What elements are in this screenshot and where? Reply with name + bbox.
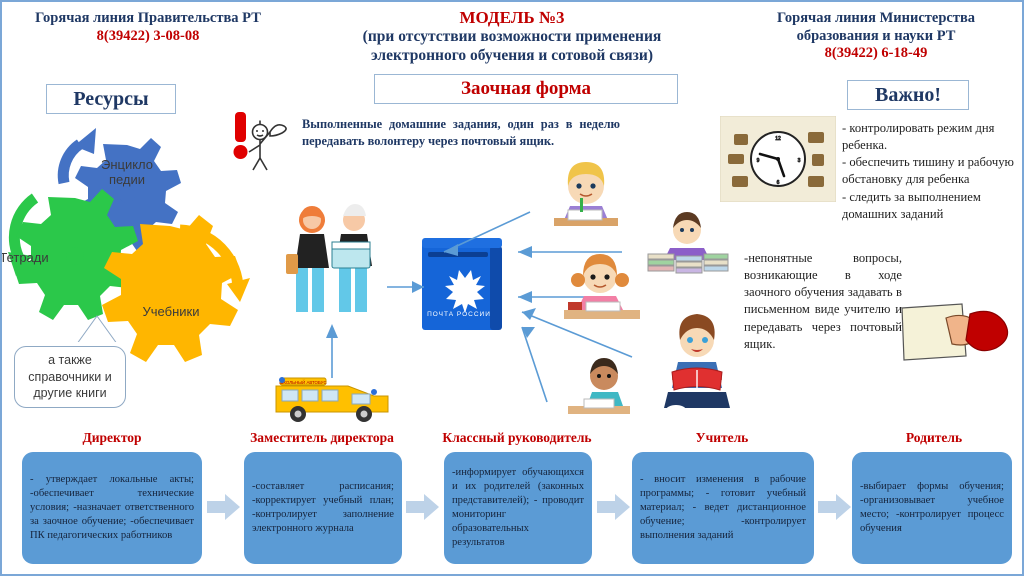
school-bus-image: ШКОЛЬНЫЙ АВТОБУС xyxy=(272,372,392,424)
role-duties-director: - утверждает локальные акты; -обеспечива… xyxy=(30,473,194,543)
svg-text:3: 3 xyxy=(798,158,801,164)
left-hotline-phone: 8(39422) 3-08-08 xyxy=(8,28,288,46)
form-label-box: Заочная форма xyxy=(374,74,678,104)
svg-text:9: 9 xyxy=(757,158,760,164)
role-box-teacher: - вносит изменения в рабочие программы; … xyxy=(632,452,814,564)
gear-label-encyclopedias-line2: педии xyxy=(2,173,252,188)
bus-to-volunteers-arrow xyxy=(322,322,342,378)
flow-arrow-1 xyxy=(207,494,241,525)
resources-label-box: Ресурсы xyxy=(46,84,176,114)
questions-note: -непонятные вопросы, возникающие в ходе … xyxy=(744,250,902,353)
student-boy-with-books-image xyxy=(642,210,732,282)
svg-text:6: 6 xyxy=(777,180,780,186)
svg-text:12: 12 xyxy=(775,136,781,142)
flow-arrow-3 xyxy=(597,494,631,525)
gear-label-notebooks-text: Тетради xyxy=(0,251,149,266)
bus-caption: ШКОЛЬНЫЙ АВТОБУС xyxy=(279,380,326,385)
left-hotline-title: Горячая линия Правительства РТ xyxy=(8,10,288,28)
volunteers-image xyxy=(278,198,390,320)
role-duties-class-teacher: -информирует обучающихся и их родителей … xyxy=(452,466,584,550)
flow-arrow-2 xyxy=(406,494,440,525)
resources-callout-text: а также справочники и другие книги xyxy=(21,352,119,403)
exclamation-person-icon xyxy=(230,110,294,172)
role-title-parent: Родитель xyxy=(854,430,1014,446)
student-child-writing-image xyxy=(562,354,640,424)
homework-note: Выполненные домашние задания, один раз в… xyxy=(302,116,620,150)
role-title-director: Директор xyxy=(32,430,192,446)
important-label-text: Важно! xyxy=(875,84,941,107)
important-list: - контролировать режим дня ребенка. - об… xyxy=(842,120,1022,223)
important-item-2: - следить за выполнением домашних задани… xyxy=(842,189,1022,223)
role-duties-parent: -выбирает формы обучения; -организовывае… xyxy=(860,480,1004,536)
hand-holding-paper-icon xyxy=(900,302,1022,390)
gear-label-textbooks-text: Учебники xyxy=(46,305,296,320)
flow-arrow-4 xyxy=(818,494,852,525)
important-item-0: - контролировать режим дня ребенка. xyxy=(842,120,1022,154)
volunteer-man xyxy=(332,204,372,312)
gear-label-textbooks: Учебники xyxy=(46,305,296,320)
role-box-class-teacher: -информирует обучающихся и их родителей … xyxy=(444,452,592,564)
role-box-director: - утверждает локальные акты; -обеспечива… xyxy=(22,452,202,564)
role-box-parent: -выбирает формы обучения; -организовывае… xyxy=(852,452,1012,564)
role-duties-deputy: -составляет расписания; -корректирует уч… xyxy=(252,480,394,536)
daily-routine-clock-image: 123 69 xyxy=(720,116,836,202)
gear-label-encyclopedias: Энцикло педии xyxy=(2,158,252,188)
left-hotline: Горячая линия Правительства РТ 8(39422) … xyxy=(8,10,288,45)
role-title-class-teacher: Классный руководитель xyxy=(422,430,612,446)
arrowhead-orange xyxy=(227,278,250,302)
right-hotline: Горячая линия Министерства образования и… xyxy=(736,10,1016,63)
right-hotline-title-line1: Горячая линия Министерства xyxy=(736,10,1016,28)
role-duties-teacher: - вносит изменения в рабочие программы; … xyxy=(640,473,806,543)
center-title-block: МОДЕЛЬ №3 (при отсутствии возможности пр… xyxy=(292,8,732,66)
student-girl-writing-image xyxy=(540,160,632,240)
student-boy-reading-image xyxy=(654,312,740,416)
resources-callout-bubble: а также справочники и другие книги xyxy=(14,346,126,408)
important-item-1: - обеспечить тишину и рабочую обстановку… xyxy=(842,154,1022,188)
role-box-deputy: -составляет расписания; -корректирует уч… xyxy=(244,452,402,564)
model-subtitle-line1: (при отсутствии возможности применения xyxy=(292,28,732,47)
gear-label-encyclopedias-line1: Энцикло xyxy=(2,158,252,173)
student-girl-raising-hand-image xyxy=(552,250,648,332)
gear-label-notebooks: Тетради xyxy=(0,251,149,266)
form-label-text: Заочная форма xyxy=(461,78,591,100)
infographic-page: Горячая линия Правительства РТ 8(39422) … xyxy=(0,0,1024,576)
right-hotline-title-line2: образования и науки РТ xyxy=(736,28,1016,46)
model-subtitle-line2: электронного обучения и сотовой связи) xyxy=(292,47,732,66)
volunteer-woman xyxy=(286,206,329,312)
important-label-box: Важно! xyxy=(847,80,969,110)
role-title-deputy: Заместитель директора xyxy=(232,430,412,446)
model-title: МОДЕЛЬ №3 xyxy=(292,8,732,28)
resources-label-text: Ресурсы xyxy=(73,88,148,111)
role-title-teacher: Учитель xyxy=(642,430,802,446)
right-hotline-phone: 8(39422) 6-18-49 xyxy=(736,45,1016,63)
